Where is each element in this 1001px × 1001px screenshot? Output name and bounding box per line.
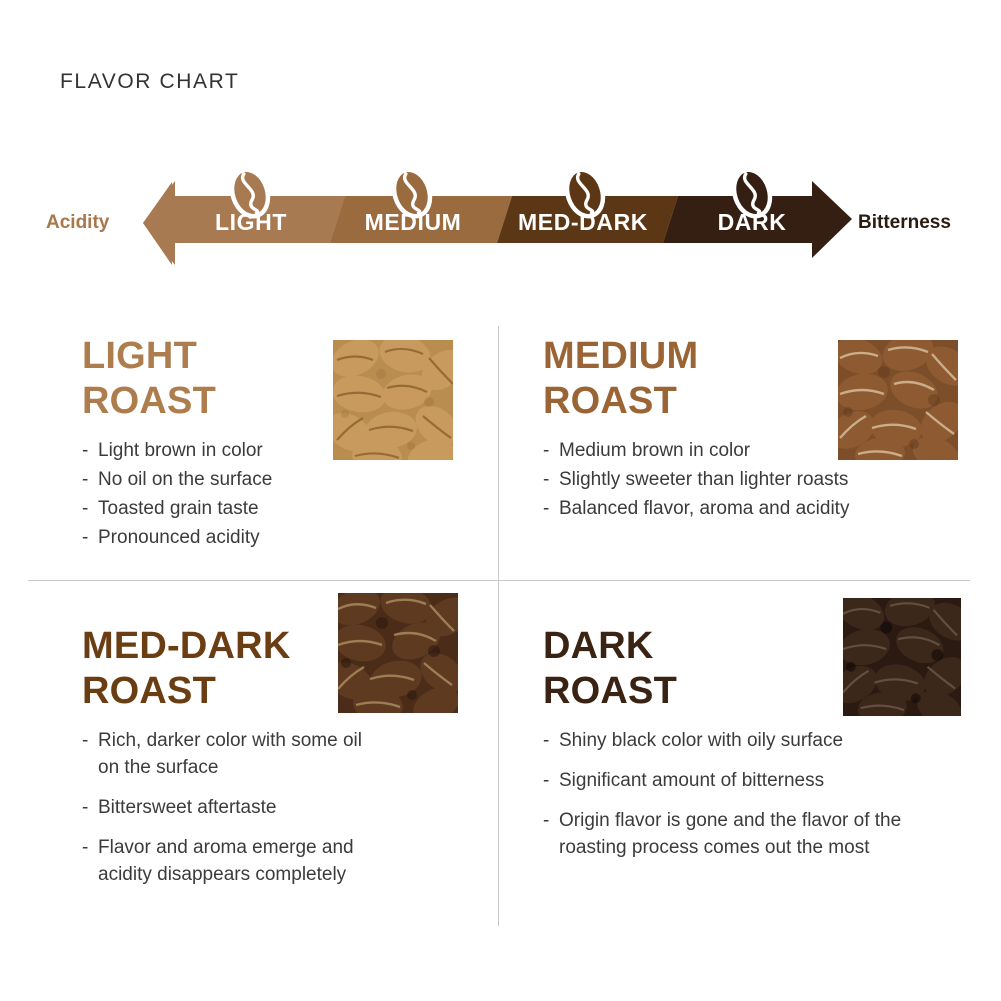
scale-segment-dark-head — [812, 181, 852, 258]
list-item: Rich, darker color with some oil on the … — [82, 728, 382, 782]
list-item: Light brown in color — [82, 438, 522, 465]
scale-label-acidity: Acidity — [46, 212, 109, 234]
list-item: Toasted grain taste — [82, 496, 522, 523]
light-roast-beans-photo — [333, 340, 453, 460]
list-item: Shiny black color with oily surface — [543, 728, 921, 755]
scale-segment-label-medium: MEDIUM — [365, 209, 462, 236]
flavor-chart-page: FLAVOR CHART — [0, 0, 1001, 1001]
page-title: FLAVOR CHART — [60, 70, 239, 94]
scale-label-bitterness: Bitterness — [858, 212, 951, 234]
roast-scale: Acidity Bitterness LIGHT MEDIUM MED-DARK… — [0, 170, 1001, 280]
scale-segment-label-light: LIGHT — [215, 209, 287, 236]
list-item: No oil on the surface — [82, 467, 522, 494]
list-item: Bittersweet aftertaste — [82, 795, 382, 822]
dark-roast-beans-photo — [843, 598, 961, 716]
roast-bullets-light: Light brown in color No oil on the surfa… — [82, 438, 522, 552]
medium-roast-beans-photo — [838, 340, 958, 460]
med-dark-roast-beans-photo — [338, 593, 458, 713]
quadrant-divider-horizontal — [28, 580, 970, 581]
roast-heading-light: LIGHT ROAST — [82, 334, 522, 424]
list-item: Origin flavor is gone and the flavor of … — [543, 808, 921, 862]
scale-segment-label-med-dark: MED-DARK — [518, 209, 648, 236]
scale-segment-dark-join — [806, 196, 816, 243]
list-item: Significant amount of bitterness — [543, 768, 921, 795]
list-item: Balanced flavor, aroma and acidity — [543, 496, 983, 523]
quadrant-light-roast: LIGHT ROAST Light brown in color No oil … — [82, 334, 522, 554]
roast-scale-graphic — [0, 170, 1001, 280]
scale-segment-light-head — [143, 181, 175, 265]
list-item: Flavor and aroma emerge and acidity disa… — [82, 835, 382, 889]
roast-bullets-dark: Shiny black color with oily surface Sign… — [543, 728, 921, 862]
roast-bullets-med-dark: Rich, darker color with some oil on the … — [82, 728, 382, 889]
list-item: Slightly sweeter than lighter roasts — [543, 467, 983, 494]
list-item: Pronounced acidity — [82, 525, 522, 552]
scale-segment-label-dark: DARK — [718, 209, 787, 236]
